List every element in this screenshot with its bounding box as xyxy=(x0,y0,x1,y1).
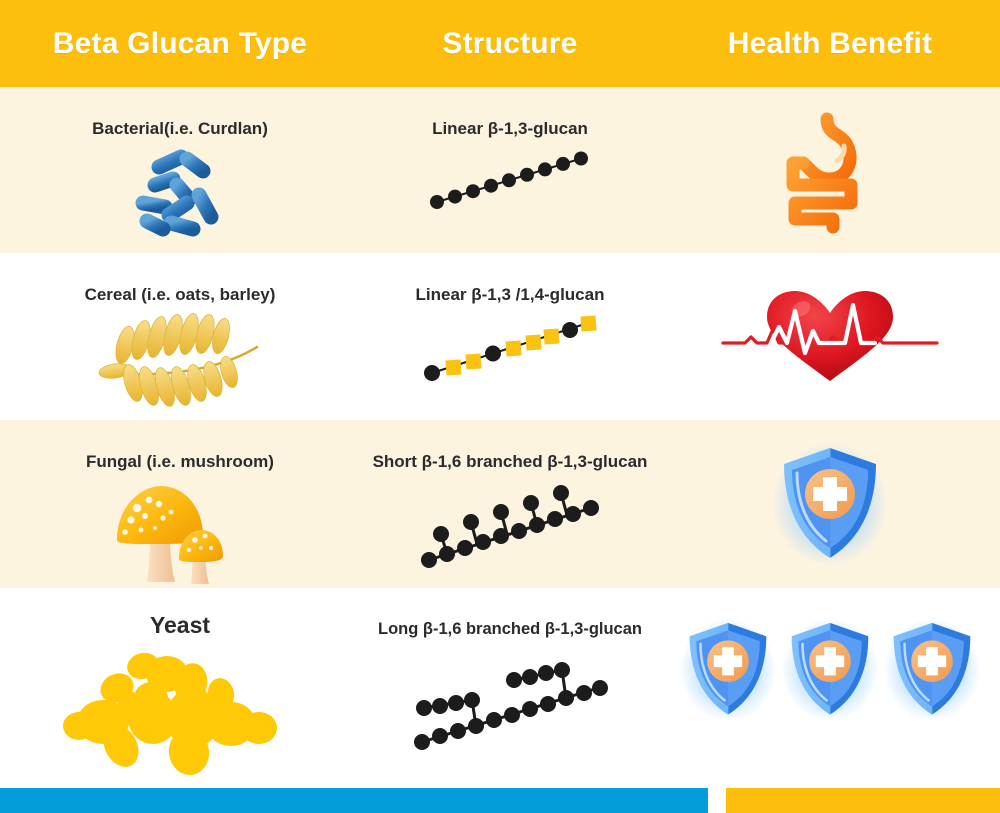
mushroom-icon xyxy=(105,478,255,588)
type-label: Bacterial(i.e. Curdlan) xyxy=(92,119,268,139)
oat-barley-sprig-icon xyxy=(95,311,265,406)
yeast-cells-icon xyxy=(55,646,305,771)
long-branched-chain-icon xyxy=(410,646,610,756)
table-row: Fungal (i.e. mushroom) xyxy=(0,420,1000,588)
linear-chain-circles-icon xyxy=(425,145,595,215)
structure-label: Linear β-1,3 /1,4-glucan xyxy=(416,285,605,305)
type-label: Fungal (i.e. mushroom) xyxy=(86,452,274,472)
type-label: Cereal (i.e. oats, barley) xyxy=(85,285,276,305)
triple-shield-cross-icon xyxy=(678,616,982,724)
table-row: Bacterial(i.e. Curdlan) xyxy=(0,87,1000,253)
column-header-type: Beta Glucan Type xyxy=(0,27,360,61)
cell-structure-long-branched: Long β-1,6 branched β-1,3-glucan xyxy=(360,588,660,780)
beta-glucan-infographic: Beta Glucan Type Structure Health Benefi… xyxy=(0,0,1000,813)
cell-benefit-shield xyxy=(660,420,1000,588)
cell-structure-short-branched: Short β-1,6 branched β-1,3-glucan xyxy=(360,420,660,588)
table-row: Cereal (i.e. oats, barley) xyxy=(0,253,1000,420)
type-label: Yeast xyxy=(150,612,210,640)
cell-benefit-triple-shield xyxy=(660,588,1000,780)
cell-benefit-heart xyxy=(660,253,1000,420)
linear-chain-circles-squares-icon xyxy=(420,311,600,386)
heart-ecg-icon xyxy=(715,281,945,391)
structure-label: Short β-1,6 branched β-1,3-glucan xyxy=(373,452,648,472)
cell-type-bacterial: Bacterial(i.e. Curdlan) xyxy=(0,87,360,253)
cell-type-fungal: Fungal (i.e. mushroom) xyxy=(0,420,360,588)
cell-structure-linear13: Linear β-1,3-glucan xyxy=(360,87,660,253)
stomach-intestine-icon xyxy=(775,109,885,229)
cell-type-cereal: Cereal (i.e. oats, barley) xyxy=(0,253,360,420)
table-row: Yeast xyxy=(0,588,1000,780)
bacteria-rods-icon xyxy=(125,145,235,240)
cell-structure-linear1314: Linear β-1,3 /1,4-glucan xyxy=(360,253,660,420)
short-branched-chain-icon xyxy=(415,478,605,573)
column-header-benefit: Health Benefit xyxy=(660,27,1000,61)
table-header: Beta Glucan Type Structure Health Benefi… xyxy=(0,0,1000,87)
shield-cross-icon xyxy=(770,442,890,567)
column-header-structure: Structure xyxy=(360,27,660,61)
cell-benefit-gut xyxy=(660,87,1000,253)
footer-bar-left xyxy=(0,788,708,813)
footer-bar-right xyxy=(726,788,1000,813)
structure-label: Long β-1,6 branched β-1,3-glucan xyxy=(378,620,642,640)
structure-label: Linear β-1,3-glucan xyxy=(432,119,588,139)
cell-type-yeast: Yeast xyxy=(0,588,360,780)
